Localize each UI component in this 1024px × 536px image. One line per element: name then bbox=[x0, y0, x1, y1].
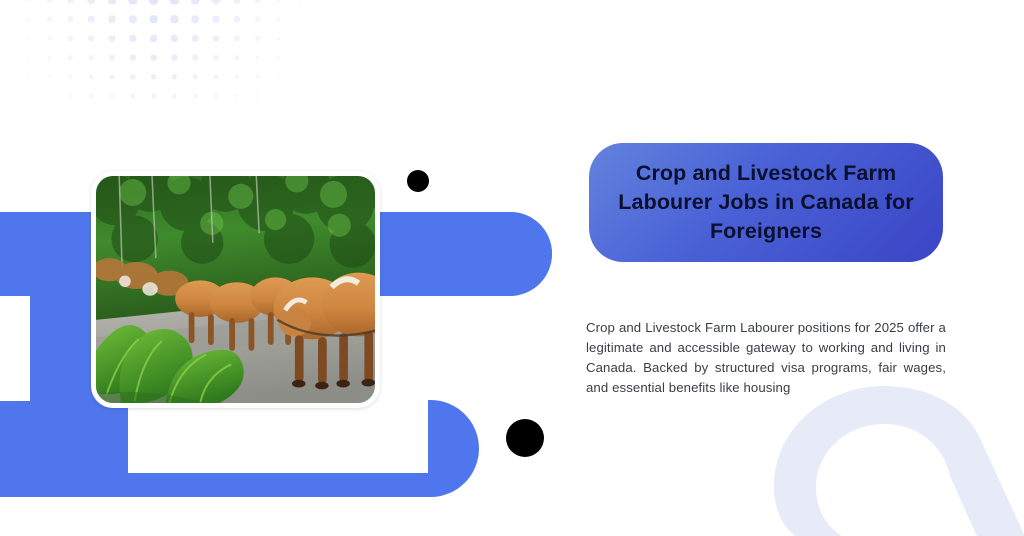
page-title: Crop and Livestock Farm Labourer Jobs in… bbox=[603, 159, 929, 246]
body-paragraph: Crop and Livestock Farm Labourer positio… bbox=[586, 318, 946, 398]
poster-canvas: Crop and Livestock Farm Labourer Jobs in… bbox=[0, 0, 1024, 536]
accent-dot-icon bbox=[506, 419, 544, 457]
halftone-dot-pattern-icon bbox=[0, 0, 372, 102]
brand-watermark-icon bbox=[766, 378, 1024, 536]
cattle-photo bbox=[96, 176, 375, 403]
ribbon-left-notch bbox=[0, 296, 30, 401]
photo-card bbox=[91, 171, 380, 408]
title-card: Crop and Livestock Farm Labourer Jobs in… bbox=[589, 143, 943, 262]
accent-dot-icon bbox=[407, 170, 429, 192]
